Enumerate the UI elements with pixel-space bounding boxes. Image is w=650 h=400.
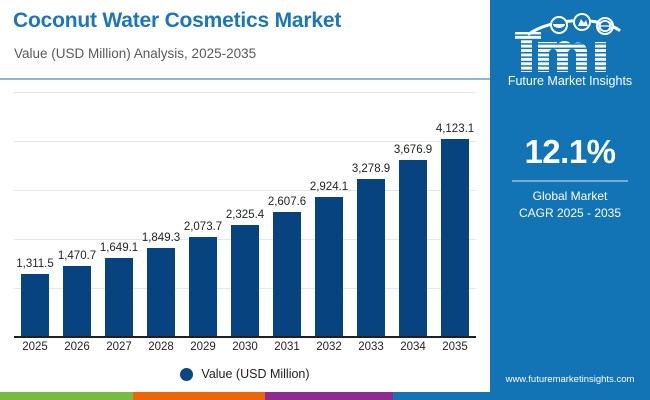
chart-legend: Value (USD Million)	[0, 363, 490, 385]
strip-segment-purple	[265, 392, 393, 400]
bar-slot: 1,311.5	[14, 92, 56, 337]
x-tick-label: 2025	[14, 341, 56, 353]
bar-group: 1,311.51,470.71,649.11,849.32,073.72,325…	[14, 92, 476, 337]
x-tick-label: 2026	[56, 341, 98, 353]
strip-segment-green	[0, 392, 133, 400]
page-title: Coconut Water Cosmetics Market	[13, 9, 341, 33]
x-tick-label: 2032	[308, 341, 350, 353]
bar[interactable]	[399, 160, 427, 337]
brand-panel: Future Market Insights 12.1% Global Mark…	[490, 0, 650, 400]
bar[interactable]	[105, 258, 133, 337]
bar[interactable]	[147, 248, 175, 337]
x-axis-tick-labels: 2025202620272028202920302031203220332034…	[14, 341, 476, 359]
bar-slot: 4,123.1	[434, 92, 476, 337]
bar[interactable]	[357, 179, 385, 337]
x-tick-label: 2030	[224, 341, 266, 353]
x-tick-label: 2028	[140, 341, 182, 353]
bar[interactable]	[21, 274, 49, 337]
x-tick-label: 2033	[350, 341, 392, 353]
plot-area: 1,311.51,470.71,649.11,849.32,073.72,325…	[14, 92, 476, 338]
bar[interactable]	[441, 139, 469, 337]
bar-slot: 1,470.7	[56, 92, 98, 337]
x-tick-label: 2029	[182, 341, 224, 353]
bar[interactable]	[189, 237, 217, 337]
page-subtitle: Value (USD Million) Analysis, 2025-2035	[14, 46, 256, 61]
bar-slot: 1,649.1	[98, 92, 140, 337]
cagr-caption-line2: CAGR 2025 - 2035	[490, 206, 650, 220]
bar[interactable]	[315, 197, 343, 337]
chart-header: Coconut Water Cosmetics Market Value (US…	[0, 0, 490, 79]
chart-panel: Coconut Water Cosmetics Market Value (US…	[0, 0, 490, 393]
strip-segment-orange	[133, 392, 265, 400]
x-tick-label: 2031	[266, 341, 308, 353]
bar[interactable]	[231, 225, 259, 337]
bar-slot: 2,607.6	[266, 92, 308, 337]
bar-slot: 2,924.1	[308, 92, 350, 337]
cagr-divider	[512, 180, 628, 182]
infographic-root: Coconut Water Cosmetics Market Value (US…	[0, 0, 650, 400]
legend-marker-icon	[180, 368, 193, 381]
bottom-color-strip	[0, 392, 650, 400]
bar-value-label: 4,123.1	[425, 123, 485, 135]
bar-slot: 3,278.9	[350, 92, 392, 337]
x-tick-label: 2034	[392, 341, 434, 353]
x-axis-line	[14, 336, 476, 338]
x-tick-label: 2027	[98, 341, 140, 353]
fmi-logo: Future Market Insights	[490, 8, 650, 90]
bar-slot: 2,325.4	[224, 92, 266, 337]
legend-label: Value (USD Million)	[201, 367, 309, 381]
header-divider	[0, 78, 490, 80]
fmi-logo-tagline: Future Market Insights	[508, 74, 632, 88]
x-tick-label: 2035	[434, 341, 476, 353]
cagr-caption-line1: Global Market	[490, 189, 650, 203]
bar[interactable]	[63, 266, 91, 337]
strip-segment-blue	[393, 392, 650, 400]
website-url[interactable]: www.futuremarketinsights.com	[490, 374, 650, 385]
cagr-value: 12.1%	[490, 133, 650, 171]
bar[interactable]	[273, 212, 301, 337]
fmi-logo-icon: Future Market Insights	[499, 8, 641, 88]
bar-slot: 1,849.3	[140, 92, 182, 337]
